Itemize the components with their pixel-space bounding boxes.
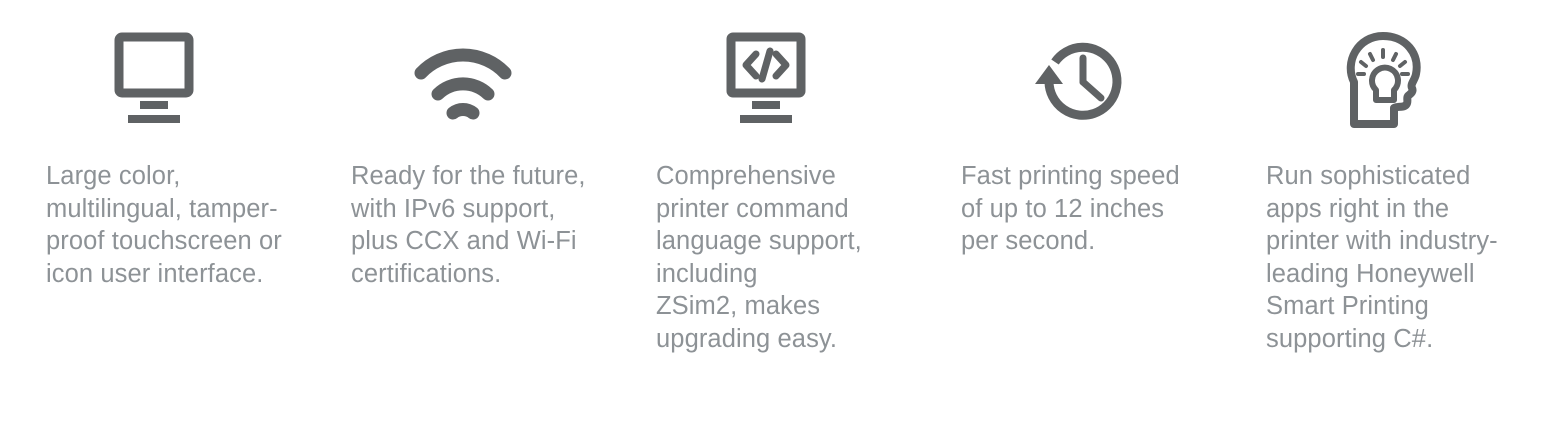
feature-text: Fast printing speed of up to 12 inches p…: [961, 160, 1180, 258]
feature-text: Large color, multilingual, tamper- proof…: [46, 160, 282, 290]
feature-strip: Large color, multilingual, tamper- proof…: [0, 0, 1563, 431]
feature-column-3: Comprehensive printer command language s…: [610, 0, 915, 356]
feature-column-2: Ready for the future, with IPv6 support,…: [305, 0, 610, 290]
feature-column-5: Run sophisticated apps right in the prin…: [1220, 0, 1525, 356]
feature-text: Run sophisticated apps right in the prin…: [1266, 160, 1498, 356]
wifi-icon: [351, 0, 513, 160]
feature-column-4: Fast printing speed of up to 12 inches p…: [915, 0, 1220, 258]
feature-text: Comprehensive printer command language s…: [656, 160, 862, 356]
feature-column-1: Large color, multilingual, tamper- proof…: [0, 0, 305, 290]
monitor-icon: [46, 0, 202, 160]
code-monitor-icon: [656, 0, 814, 160]
head-lightbulb-icon: [1266, 0, 1436, 160]
clock-refresh-icon: [961, 0, 1129, 160]
feature-text: Ready for the future, with IPv6 support,…: [351, 160, 586, 290]
